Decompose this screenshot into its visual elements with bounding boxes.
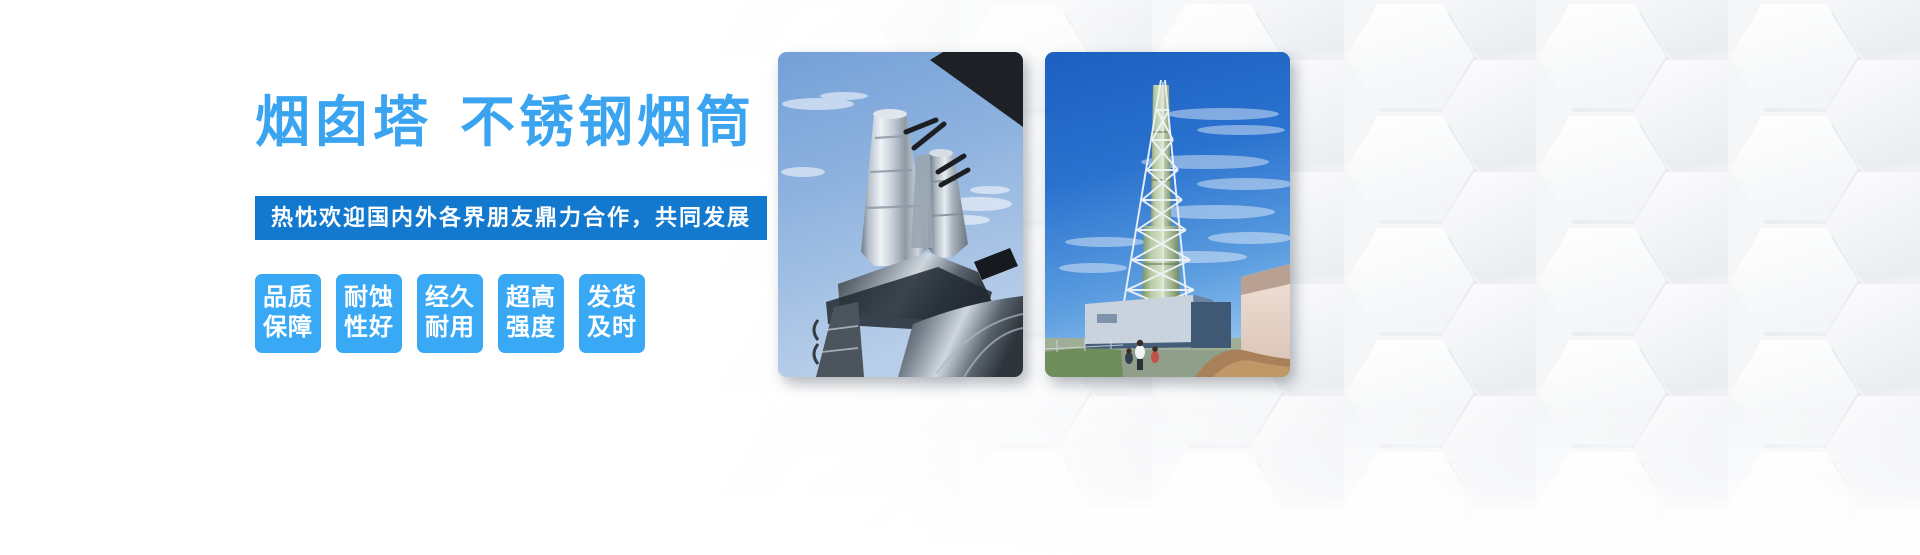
badge-line-1: 发货 (579, 283, 645, 313)
badge-line-1: 超高 (498, 283, 564, 313)
badge-line-2: 强度 (498, 313, 564, 343)
badge-line-2: 性好 (336, 313, 402, 343)
chimney-tower-photo-icon (1045, 52, 1290, 377)
badge-line-1: 耐蚀 (336, 283, 402, 313)
headline-part-2: 不锈钢烟筒 (460, 91, 755, 153)
badge-line-2: 及时 (579, 313, 645, 343)
headline-part-1: 烟囱塔 (255, 91, 432, 153)
feature-badge-corrosion-resistance[interactable]: 耐蚀 性好 (336, 274, 402, 353)
feature-badge-quality[interactable]: 品质 保障 (255, 274, 321, 353)
product-photo-stainless-chimney[interactable] (778, 52, 1023, 377)
badge-line-2: 耐用 (417, 313, 483, 343)
product-photo-gallery (778, 52, 1290, 377)
feature-badge-fast-delivery[interactable]: 发货 及时 (579, 274, 645, 353)
badge-line-1: 品质 (255, 283, 321, 313)
feature-badge-high-strength[interactable]: 超高 强度 (498, 274, 564, 353)
badge-line-2: 保障 (255, 313, 321, 343)
feature-badge-durability[interactable]: 经久 耐用 (417, 274, 483, 353)
stainless-chimney-photo-icon (778, 52, 1023, 377)
product-banner: 烟囱塔不锈钢烟筒 热忱欢迎国内外各界朋友鼎力合作，共同发展 品质 保障 耐蚀 性… (0, 0, 1920, 555)
product-photo-chimney-tower[interactable] (1045, 52, 1290, 377)
badge-line-1: 经久 (417, 283, 483, 313)
banner-subtitle-bar: 热忱欢迎国内外各界朋友鼎力合作，共同发展 (255, 196, 767, 240)
